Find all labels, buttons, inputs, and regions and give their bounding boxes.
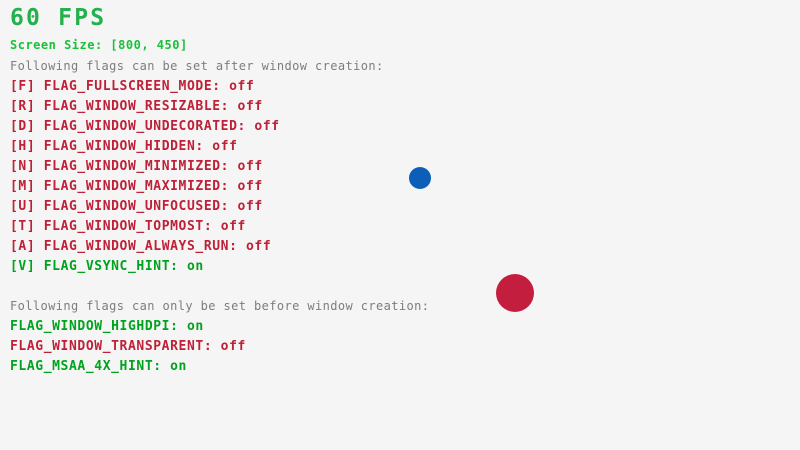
flag-hotkey: [T] (10, 219, 44, 234)
flag-row[interactable]: [D] FLAG_WINDOW_UNDECORATED: off (10, 120, 280, 133)
blue-ball-circle (409, 167, 431, 189)
flag-row[interactable]: [R] FLAG_WINDOW_RESIZABLE: off (10, 100, 263, 113)
flag-value: off (238, 179, 263, 194)
flag-name: FLAG_WINDOW_ALWAYS_RUN: (44, 239, 246, 254)
flag-name: FLAG_WINDOW_HIGHDPI: (10, 319, 187, 334)
flag-row[interactable]: [V] FLAG_VSYNC_HINT: on (10, 260, 204, 273)
flag-row[interactable]: FLAG_WINDOW_HIGHDPI: on (10, 320, 204, 333)
flag-value: off (238, 159, 263, 174)
flag-row[interactable]: [M] FLAG_WINDOW_MAXIMIZED: off (10, 180, 263, 193)
flag-row[interactable]: FLAG_WINDOW_TRANSPARENT: off (10, 340, 246, 353)
flag-name: FLAG_MSAA_4X_HINT: (10, 359, 170, 374)
flag-hotkey: [M] (10, 179, 44, 194)
flag-name: FLAG_WINDOW_TRANSPARENT: (10, 339, 221, 354)
creation-flags-header: Following flags can only be set before w… (10, 300, 429, 313)
flag-value: off (246, 239, 271, 254)
red-ball-circle (496, 274, 534, 312)
flag-hotkey: [H] (10, 139, 44, 154)
flag-value: on (187, 259, 204, 274)
flag-row[interactable]: [H] FLAG_WINDOW_HIDDEN: off (10, 140, 238, 153)
fps-counter: 60 FPS (10, 7, 106, 30)
flag-name: FLAG_WINDOW_MINIMIZED: (44, 159, 238, 174)
flag-row[interactable]: [A] FLAG_WINDOW_ALWAYS_RUN: off (10, 240, 271, 253)
flag-row[interactable]: [F] FLAG_FULLSCREEN_MODE: off (10, 80, 254, 93)
flag-row[interactable]: FLAG_MSAA_4X_HINT: on (10, 360, 187, 373)
flag-row[interactable]: [N] FLAG_WINDOW_MINIMIZED: off (10, 160, 263, 173)
flag-name: FLAG_WINDOW_MAXIMIZED: (44, 179, 238, 194)
flag-name: FLAG_WINDOW_TOPMOST: (44, 219, 221, 234)
flag-hotkey: [R] (10, 99, 44, 114)
flag-hotkey: [A] (10, 239, 44, 254)
flag-hotkey: [N] (10, 159, 44, 174)
flag-value: off (229, 79, 254, 94)
flag-hotkey: [U] (10, 199, 44, 214)
flag-name: FLAG_WINDOW_UNDECORATED: (44, 119, 255, 134)
screen-size-label: Screen Size: [800, 450] (10, 39, 188, 51)
flag-value: off (238, 199, 263, 214)
flag-value: on (170, 359, 187, 374)
runtime-flags-header: Following flags can be set after window … (10, 60, 384, 73)
flag-hotkey: [F] (10, 79, 44, 94)
flag-name: FLAG_FULLSCREEN_MODE: (44, 79, 229, 94)
flag-name: FLAG_VSYNC_HINT: (44, 259, 187, 274)
flag-name: FLAG_WINDOW_HIDDEN: (44, 139, 213, 154)
flag-value: off (221, 339, 246, 354)
flag-value: off (238, 99, 263, 114)
raylib-window-canvas[interactable]: 60 FPS Screen Size: [800, 450] Following… (0, 0, 800, 450)
flag-value: off (254, 119, 279, 134)
flag-hotkey: [V] (10, 259, 44, 274)
flag-row[interactable]: [U] FLAG_WINDOW_UNFOCUSED: off (10, 200, 263, 213)
flag-name: FLAG_WINDOW_UNFOCUSED: (44, 199, 238, 214)
flag-name: FLAG_WINDOW_RESIZABLE: (44, 99, 238, 114)
flag-row[interactable]: [T] FLAG_WINDOW_TOPMOST: off (10, 220, 246, 233)
flag-value: on (187, 319, 204, 334)
flag-hotkey: [D] (10, 119, 44, 134)
flag-value: off (221, 219, 246, 234)
flag-value: off (212, 139, 237, 154)
